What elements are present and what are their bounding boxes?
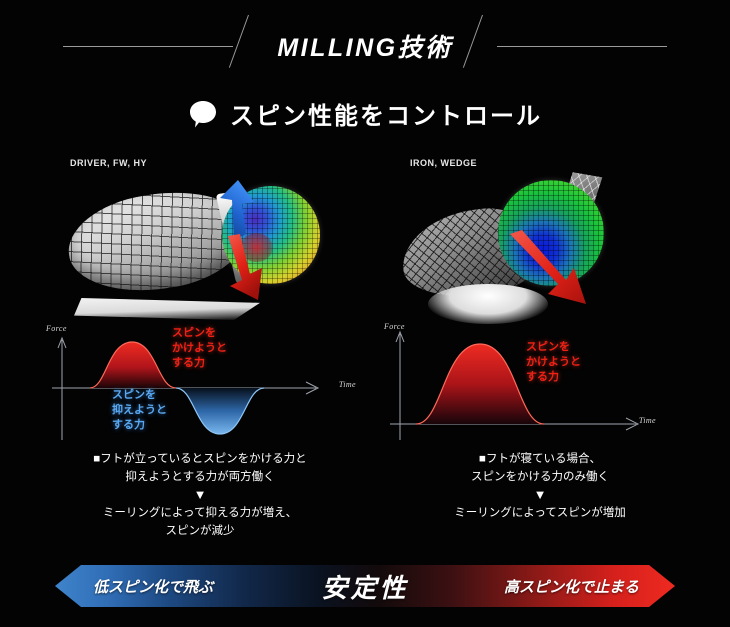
title-rule-right <box>497 46 667 47</box>
caption-driver-top-2: 抑えようとする力が両方働く <box>30 468 370 486</box>
chart-driver-ylabel: Force <box>46 324 67 333</box>
blue-up-arrow <box>216 178 262 242</box>
caption-driver-top-1: ■フトが立っているとスピンをかける力と <box>30 450 370 468</box>
speech-bubble-icon <box>188 99 218 129</box>
chart-driver-xlabel: Time <box>339 380 356 389</box>
caption-driver-bottom-1: ミーリングによって抑える力が増え、 <box>30 504 370 522</box>
subtitle: スピン性能をコントロール <box>230 96 542 131</box>
chart-iron-ylabel: Force <box>384 322 405 331</box>
caption-driver: ■フトが立っているとスピンをかける力と 抑えようとする力が両方働く ▼ ミーリン… <box>30 450 370 540</box>
subtitle-row: スピン性能をコントロール <box>0 96 730 131</box>
chart-driver-annotation-blue: スピンを 抑えようと する力 <box>112 388 167 433</box>
red-down-arrow <box>222 234 274 306</box>
caption-iron-bottom-1: ミーリングによってスピンが増加 <box>370 504 710 522</box>
chart-iron-xlabel: Time <box>639 416 656 425</box>
caption-driver-arrow: ▼ <box>30 486 370 503</box>
title-slash-left <box>233 19 263 73</box>
caption-driver-bottom-2: スピンが減少 <box>30 522 370 540</box>
chart-driver-force: Force Time スピンを かけようと する力 スピンを 抑えようと する力 <box>44 322 360 446</box>
spin-scale-banner: 低スピン化で飛ぶ 安定性 高スピン化で止まる <box>55 565 675 607</box>
panel-iron: IRON, WEDGE <box>370 150 710 550</box>
chart-driver-annotation-red: スピンを かけようと する力 <box>172 326 227 371</box>
title-slash-right <box>467 19 497 73</box>
red-down-arrow <box>508 230 598 314</box>
chart-iron-force: Force Time スピンを かけようと する力 <box>384 322 700 446</box>
render-iron <box>380 172 700 327</box>
page-title: MILLING技術 <box>263 28 466 64</box>
milling-technology-infographic: MILLING技術 スピン性能をコントロール DRIVER, FW, HY <box>0 0 730 627</box>
banner-label-high-spin: 高スピン化で止まる <box>504 565 639 607</box>
chart-iron-annotation-red: スピンを かけようと する力 <box>526 340 581 385</box>
panel-label-iron: IRON, WEDGE <box>410 158 477 168</box>
panel-label-driver: DRIVER, FW, HY <box>70 158 147 168</box>
caption-iron: ■フトが寝ている場合、 スピンをかける力のみ働く ▼ ミーリングによってスピンが… <box>370 450 710 522</box>
caption-iron-top-2: スピンをかける力のみ働く <box>370 468 710 486</box>
render-driver <box>40 172 360 327</box>
page-title-row: MILLING技術 <box>0 22 730 70</box>
caption-iron-arrow: ▼ <box>370 486 710 503</box>
caption-iron-top-1: ■フトが寝ている場合、 <box>370 450 710 468</box>
title-rule-left <box>63 46 233 47</box>
panel-driver: DRIVER, FW, HY <box>30 150 370 550</box>
